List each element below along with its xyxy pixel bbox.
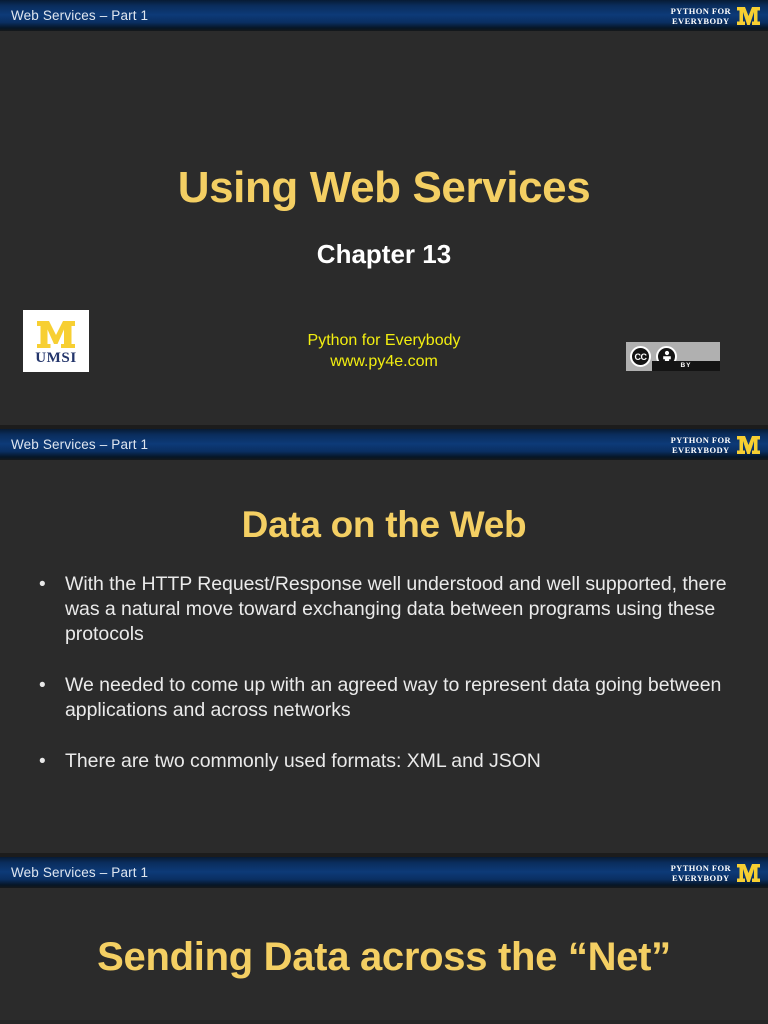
slide-content-body: Sending Data across the “Net”	[0, 888, 768, 1020]
slide-sending-data: Web Services – Part 1 PYTHON FOR EVERYBO…	[0, 853, 768, 1020]
slide-header-bar: Web Services – Part 1 PYTHON FOR EVERYBO…	[0, 0, 768, 31]
bullet-text: With the HTTP Request/Response well unde…	[65, 572, 738, 647]
slide-header-bar: Web Services – Part 1 PYTHON FOR EVERYBO…	[0, 429, 768, 460]
brand-line-1: PYTHON FOR	[671, 863, 731, 873]
brand-line-1: PYTHON FOR	[671, 435, 731, 445]
brand-line-2: EVERYBODY	[671, 16, 731, 26]
brand-lockup: PYTHON FOR EVERYBODY	[671, 434, 765, 456]
slide-header-title: Web Services – Part 1	[11, 9, 148, 23]
list-item: • We needed to come up with an agreed wa…	[34, 673, 738, 723]
slide-data-on-the-web: Web Services – Part 1 PYTHON FOR EVERYBO…	[0, 425, 768, 853]
cc-label: CC	[635, 352, 647, 362]
page-title: Using Web Services	[0, 163, 768, 213]
bullet-text: There are two commonly used formats: XML…	[65, 749, 541, 774]
michigan-m-icon	[736, 434, 761, 456]
list-item: • There are two commonly used formats: X…	[34, 749, 738, 774]
brand-lockup: PYTHON FOR EVERYBODY	[671, 862, 765, 884]
bullet-marker-icon: •	[34, 572, 65, 647]
cc-by-label: BY	[652, 361, 720, 371]
brand-line-1: PYTHON FOR	[671, 6, 731, 16]
slide-header-title: Web Services – Part 1	[11, 866, 148, 880]
creative-commons-badge: CC BY	[626, 342, 720, 371]
michigan-m-icon	[736, 5, 761, 27]
brand-text: PYTHON FOR EVERYBODY	[671, 6, 731, 26]
list-item: • With the HTTP Request/Response well un…	[34, 572, 738, 647]
brand-line-2: EVERYBODY	[671, 873, 731, 883]
bullet-list: • With the HTTP Request/Response well un…	[34, 572, 738, 800]
slide-title-body: Using Web Services Chapter 13 UMSI Pytho…	[0, 31, 768, 425]
bullet-marker-icon: •	[34, 673, 65, 723]
brand-text: PYTHON FOR EVERYBODY	[671, 863, 731, 883]
slide-deck-viewer: Web Services – Part 1 PYTHON FOR EVERYBO…	[0, 0, 768, 1024]
bullet-text: We needed to come up with an agreed way …	[65, 673, 738, 723]
slide-content-body: Data on the Web • With the HTTP Request/…	[0, 460, 768, 853]
slide-title: Web Services – Part 1 PYTHON FOR EVERYBO…	[0, 0, 768, 425]
brand-text: PYTHON FOR EVERYBODY	[671, 435, 731, 455]
michigan-m-icon	[736, 862, 761, 884]
brand-line-2: EVERYBODY	[671, 445, 731, 455]
slide-heading: Data on the Web	[0, 504, 768, 546]
slide-heading: Sending Data across the “Net”	[0, 935, 768, 980]
slide-header-bar: Web Services – Part 1 PYTHON FOR EVERYBO…	[0, 857, 768, 888]
bullet-marker-icon: •	[34, 749, 65, 774]
brand-lockup: PYTHON FOR EVERYBODY	[671, 5, 765, 27]
page-subtitle: Chapter 13	[0, 239, 768, 270]
cc-icon: CC	[630, 346, 651, 367]
slide-header-title: Web Services – Part 1	[11, 438, 148, 452]
